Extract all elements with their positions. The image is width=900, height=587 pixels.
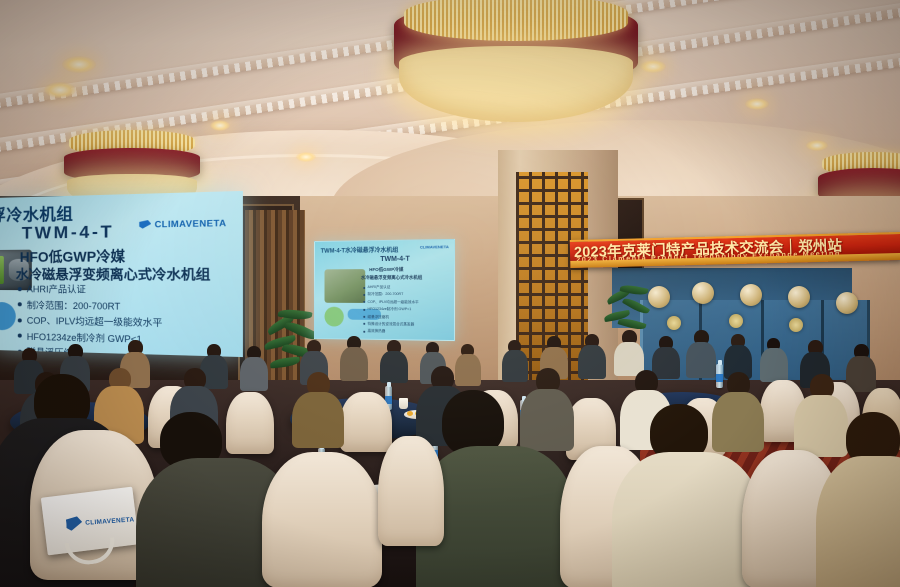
wall-medallion bbox=[788, 286, 810, 308]
audience-member-foreground bbox=[612, 410, 762, 587]
tote-logo: CLIMAVENETA bbox=[66, 512, 135, 531]
downlight bbox=[296, 152, 316, 162]
climaveneta-logo: CLIMAVENETA bbox=[139, 217, 226, 229]
person-body bbox=[612, 452, 762, 587]
slide-bullet-item: 制冷范围：200-700RT bbox=[364, 292, 419, 297]
slide-bullet-item: 高效换热器 bbox=[364, 329, 419, 335]
bullet-text: 制冷范围：200-700RT bbox=[27, 298, 121, 312]
person-body bbox=[240, 357, 268, 391]
audience-member bbox=[340, 336, 368, 380]
wall-medallion bbox=[789, 318, 803, 332]
slide-bullet-item: HFO1234ze制冷剂 GWP<1 bbox=[364, 307, 419, 312]
slide-bullet-item: AHRI产品认证 bbox=[18, 282, 163, 296]
chandelier-center bbox=[394, 2, 638, 120]
audience-member bbox=[614, 330, 644, 374]
slide-bullet-list-small: AHRI产品认证 制冷范围：200-700RT COP、IPLV均远超一级能效水… bbox=[364, 285, 419, 337]
person-body bbox=[816, 456, 900, 587]
bullet-dot-icon bbox=[18, 287, 22, 291]
downlight bbox=[745, 98, 769, 110]
wall-medallion bbox=[692, 282, 714, 304]
slide-bullet-item: AHRI产品认证 bbox=[364, 285, 419, 290]
climaveneta-logo-icon bbox=[66, 516, 83, 531]
person-body bbox=[760, 348, 788, 382]
bullet-dot-icon bbox=[18, 302, 22, 306]
chandelier-left bbox=[64, 134, 200, 198]
wall-medallion bbox=[836, 292, 858, 314]
downlight bbox=[210, 120, 230, 131]
downlight bbox=[62, 56, 96, 73]
conference-tote-bag: CLIMAVENETA bbox=[41, 487, 139, 556]
audience-member bbox=[240, 346, 268, 388]
banquet-chair-foreground bbox=[378, 436, 444, 546]
climaveneta-logo-small: CLIMAVENETA bbox=[420, 244, 449, 249]
slide-model-title: TWM-4-T bbox=[22, 222, 115, 244]
banquet-chair-foreground bbox=[262, 452, 382, 587]
slide-subtitle-1-small: HFO低GWP冷媒 bbox=[369, 267, 403, 273]
wall-medallion bbox=[729, 314, 743, 328]
slide-accent-circle bbox=[0, 302, 16, 331]
downlight bbox=[640, 60, 666, 73]
slide-model-title-small: TWM-4-T bbox=[380, 256, 410, 263]
person-body bbox=[340, 347, 368, 381]
climaveneta-logo-text: CLIMAVENETA bbox=[155, 217, 227, 229]
downlight bbox=[806, 140, 828, 151]
person-body bbox=[292, 392, 344, 448]
tote-logo-text: CLIMAVENETA bbox=[85, 516, 135, 526]
bullet-text: AHRI产品认证 bbox=[27, 282, 86, 296]
audience-member bbox=[846, 344, 876, 390]
slide-accent-circle-small bbox=[325, 307, 344, 327]
downlight bbox=[44, 82, 76, 98]
bullet-dot-icon bbox=[18, 318, 22, 322]
audience-member bbox=[760, 338, 788, 380]
slide-bullet-item: COP、IPLV均远超一级能效水平 bbox=[364, 300, 419, 305]
chiller-product-image-small bbox=[325, 269, 366, 303]
slide-subtitle-2-small: 水冷磁悬浮变频离心式冷水机组 bbox=[361, 275, 422, 281]
climaveneta-logo-icon bbox=[139, 220, 151, 229]
audience-member-foreground bbox=[816, 416, 900, 587]
slide-bullet-item: 磁悬浮压缩机 bbox=[364, 314, 419, 319]
slide-title-small: TWM-4-T水冷磁悬浮冷水机组 bbox=[321, 245, 399, 255]
secondary-projection-screen: TWM-4-T水冷磁悬浮冷水机组 CLIMAVENETA TWM-4-T HFO… bbox=[314, 239, 455, 341]
audience-member bbox=[686, 330, 716, 376]
bullet-text: COP、IPLV均远超一级能效水平 bbox=[27, 313, 163, 329]
fruit-piece bbox=[407, 411, 413, 416]
plant-leaf bbox=[270, 356, 301, 368]
slide-bullet-item: COP、IPLV均远超一级能效水平 bbox=[18, 313, 163, 329]
audience-member bbox=[380, 340, 408, 382]
main-projection-screen: 浮冷水机组 CLIMAVENETA TWM-4-T HFO低GWP冷媒 水冷磁悬… bbox=[0, 191, 243, 357]
slide-bullet-item: 特殊设计的逆流混合式蒸发器 bbox=[364, 322, 419, 328]
conference-hall-photo: 2023年克莱门特产品技术交流会｜郑州站 2023 Clamenta Produ… bbox=[0, 0, 900, 587]
chandelier-crystal-body bbox=[399, 46, 633, 122]
wall-medallion bbox=[667, 316, 681, 330]
audience-member bbox=[292, 372, 344, 444]
slide-subtitle-2: 水冷磁悬浮变频离心式冷水机组 bbox=[16, 263, 211, 284]
paper-cup bbox=[399, 398, 408, 409]
banquet-chair bbox=[340, 392, 392, 452]
person-body bbox=[578, 345, 606, 379]
slide-bullet-item: 制冷范围：200-700RT bbox=[18, 298, 163, 313]
person-body bbox=[380, 351, 408, 383]
chandelier-crystal-upper bbox=[404, 0, 628, 41]
bullet-dot-icon bbox=[18, 334, 22, 338]
audience-member bbox=[578, 334, 606, 378]
wall-medallion bbox=[740, 284, 762, 306]
